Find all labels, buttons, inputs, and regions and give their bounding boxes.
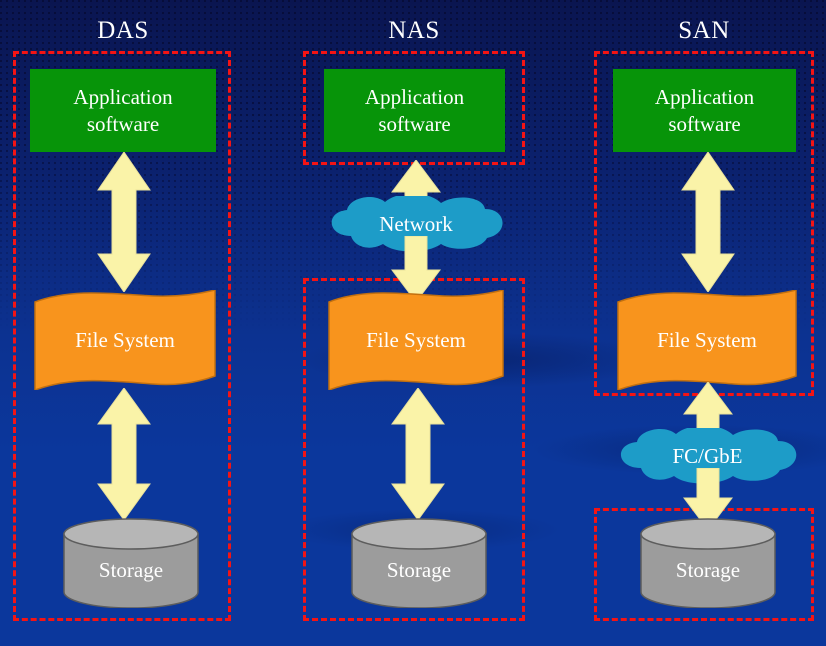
san-application-software-label-line2: software bbox=[655, 111, 754, 138]
column-title-san: SAN bbox=[644, 16, 764, 46]
das-arrow-app-to-filesystem bbox=[96, 152, 152, 292]
das-storage-cylinder: Storage bbox=[62, 518, 200, 608]
san-file-system-ribbon: File System bbox=[616, 290, 798, 390]
nas-storage-cylinder: Storage bbox=[350, 518, 488, 608]
das-application-software-label-line1: Application bbox=[73, 84, 172, 111]
das-file-system-ribbon: File System bbox=[33, 290, 217, 390]
nas-arrow-filesystem-to-storage bbox=[390, 388, 446, 520]
nas-file-system-ribbon: File System bbox=[327, 290, 505, 390]
column-title-das: DAS bbox=[63, 16, 183, 46]
das-application-software-label-line2: software bbox=[73, 111, 172, 138]
san-arrow-app-to-filesystem bbox=[680, 152, 736, 292]
storage-architecture-diagram: DAS NAS SAN Application software File Sy… bbox=[0, 0, 826, 646]
san-storage-cylinder: Storage bbox=[639, 518, 777, 608]
nas-application-software-box: Application software bbox=[324, 69, 505, 152]
column-title-nas: NAS bbox=[354, 16, 474, 46]
san-application-software-label-line1: Application bbox=[655, 84, 754, 111]
das-arrow-filesystem-to-storage bbox=[96, 388, 152, 520]
nas-application-software-label-line1: Application bbox=[365, 84, 464, 111]
san-application-software-box: Application software bbox=[613, 69, 796, 152]
nas-application-software-label-line2: software bbox=[365, 111, 464, 138]
das-application-software-box: Application software bbox=[30, 69, 216, 152]
